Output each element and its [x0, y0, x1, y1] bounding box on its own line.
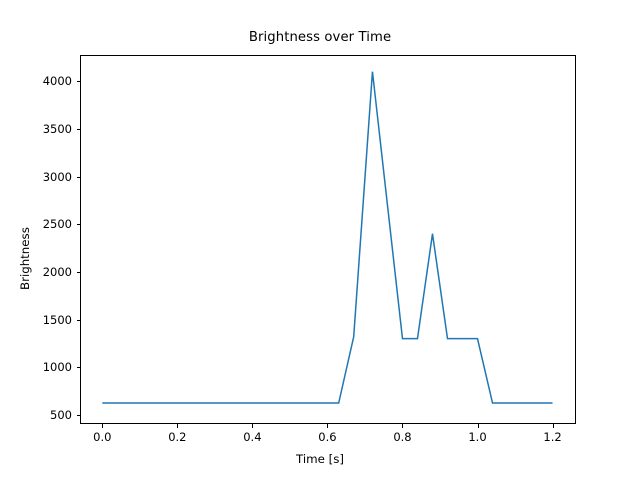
x-tick-mark [478, 424, 479, 428]
y-tick-label: 3500 [28, 122, 72, 136]
x-tick-mark [177, 424, 178, 428]
x-tick-mark [327, 424, 328, 428]
x-tick-label: 0.8 [393, 430, 411, 444]
y-tick-mark [77, 177, 81, 178]
x-tick-label: 1.0 [468, 430, 486, 444]
x-tick-label: 0.6 [318, 430, 336, 444]
y-tick-label: 500 [28, 408, 72, 422]
plot-axes-frame [80, 55, 576, 424]
y-tick-label: 4000 [28, 74, 72, 88]
y-tick-mark [77, 272, 81, 273]
y-tick-label: 1500 [28, 313, 72, 327]
x-axis-label: Time [s] [0, 452, 640, 466]
y-tick-label: 2000 [28, 265, 72, 279]
x-tick-label: 0.4 [243, 430, 261, 444]
y-tick-mark [77, 81, 81, 82]
y-tick-mark [77, 129, 81, 130]
y-tick-mark [77, 320, 81, 321]
x-tick-mark [102, 424, 103, 428]
x-tick-label: 0.2 [168, 430, 186, 444]
y-tick-mark [77, 224, 81, 225]
x-tick-mark [553, 424, 554, 428]
chart-title: Brightness over Time [0, 30, 640, 45]
x-tick-label: 1.2 [543, 430, 561, 444]
y-tick-label: 1000 [28, 360, 72, 374]
x-tick-mark [252, 424, 253, 428]
chart-figure: Brightness over Time Brightness Time [s]… [0, 0, 640, 480]
y-tick-mark [77, 415, 81, 416]
y-tick-label: 2500 [28, 217, 72, 231]
y-tick-mark [77, 367, 81, 368]
x-tick-label: 0.0 [93, 430, 111, 444]
y-tick-label: 3000 [28, 170, 72, 184]
y-axis-label: Brightness [18, 90, 32, 290]
x-tick-mark [402, 424, 403, 428]
